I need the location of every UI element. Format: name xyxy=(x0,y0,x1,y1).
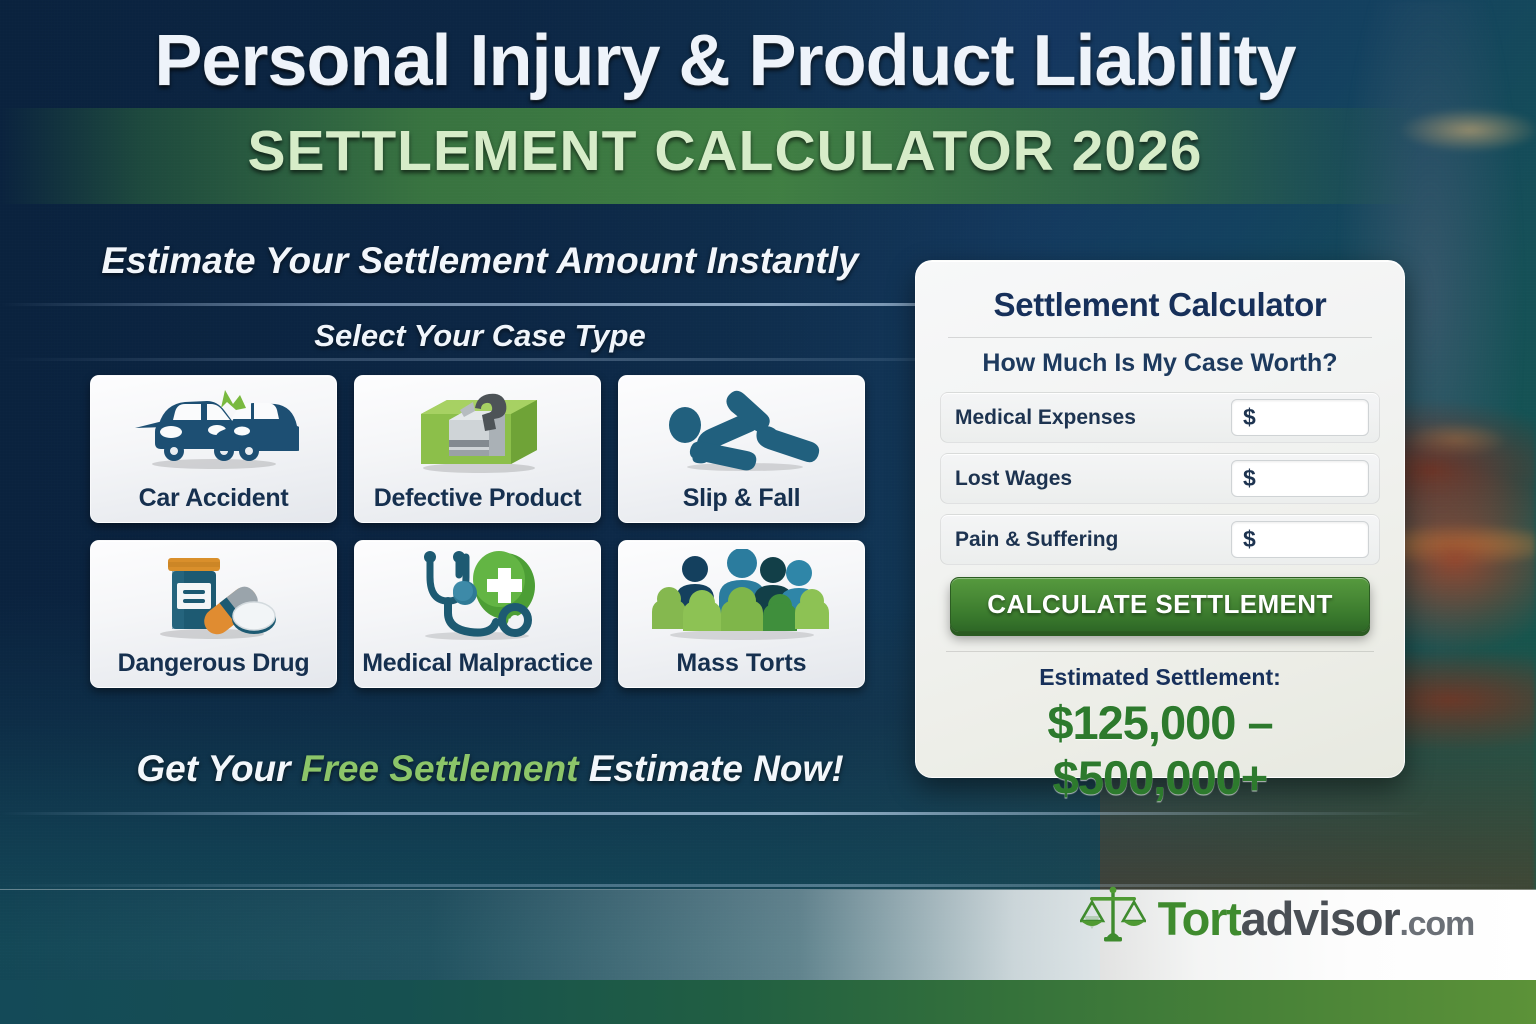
field-label: Pain & Suffering xyxy=(955,528,1118,552)
crowd-of-people-icon xyxy=(619,541,864,649)
field-label: Lost Wages xyxy=(955,467,1072,491)
field-label: Medical Expenses xyxy=(955,406,1136,430)
page-subtitle: SETTLEMENT CALCULATOR 2026 xyxy=(0,118,1450,184)
pain-and-suffering-input[interactable]: $ xyxy=(1231,521,1369,558)
footer-color-strip xyxy=(0,980,1536,1024)
car-crash-icon xyxy=(91,376,336,484)
lost-wages-input[interactable]: $ xyxy=(1231,460,1369,497)
case-type-label: Slip & Fall xyxy=(683,484,801,513)
case-type-card-dangerous-drug[interactable]: Dangerous Drug xyxy=(90,540,337,688)
logo-text-tort: Tort xyxy=(1158,892,1241,945)
cta-highlight: Free Settlement xyxy=(301,748,579,789)
slip-and-fall-icon xyxy=(619,376,864,484)
pill-bottle-icon xyxy=(91,541,336,649)
case-type-label: Defective Product xyxy=(374,484,581,513)
case-type-grid: Car Accident Defective Product xyxy=(90,375,865,688)
poster-stage: Personal Injury & Product Liability SETT… xyxy=(0,0,1536,1024)
tagline: Estimate Your Settlement Amount Instantl… xyxy=(0,240,960,282)
field-lost-wages[interactable]: Lost Wages $ xyxy=(940,453,1380,504)
call-to-action: Get Your Free Settlement Estimate Now! xyxy=(0,748,980,790)
case-type-card-medical-malpractice[interactable]: Medical Malpractice xyxy=(354,540,601,688)
logo-wordmark: Tortadvisor.com xyxy=(1158,895,1474,942)
field-pain-and-suffering[interactable]: Pain & Suffering $ xyxy=(940,514,1380,565)
cta-prefix: Get Your xyxy=(136,748,300,789)
medical-expenses-input[interactable]: $ xyxy=(1231,399,1369,436)
case-type-card-mass-torts[interactable]: Mass Torts xyxy=(618,540,865,688)
case-type-card-slip-and-fall[interactable]: Slip & Fall xyxy=(618,375,865,523)
settlement-calculator-panel: Settlement Calculator How Much Is My Cas… xyxy=(915,260,1405,778)
case-type-label: Dangerous Drug xyxy=(118,649,310,678)
case-type-card-car-accident[interactable]: Car Accident xyxy=(90,375,337,523)
select-case-type-label: Select Your Case Type xyxy=(0,318,960,354)
estimated-settlement-label: Estimated Settlement: xyxy=(940,664,1380,691)
calculator-divider-2 xyxy=(946,651,1374,652)
scales-of-justice-icon xyxy=(1080,885,1146,952)
estimated-settlement-value: $125,000 – $500,000+ xyxy=(940,695,1380,805)
cta-suffix: Estimate Now! xyxy=(578,748,843,789)
case-type-label: Mass Torts xyxy=(676,649,806,678)
case-type-label: Car Accident xyxy=(139,484,289,513)
divider-shine-3 xyxy=(0,812,1430,815)
logo-text-dotcom: .com xyxy=(1399,905,1474,943)
site-logo[interactable]: Tortadvisor.com xyxy=(1080,885,1474,952)
calculate-settlement-button[interactable]: CALCULATE SETTLEMENT xyxy=(950,577,1370,632)
calculator-question: How Much Is My Case Worth? xyxy=(940,349,1380,378)
page-title: Personal Injury & Product Liability xyxy=(0,20,1450,102)
logo-text-advisor: advisor xyxy=(1241,892,1400,945)
calculator-title: Settlement Calculator xyxy=(940,286,1380,324)
case-type-label: Medical Malpractice xyxy=(362,649,593,678)
calculator-divider xyxy=(948,337,1372,338)
case-type-card-defective-product[interactable]: Defective Product xyxy=(354,375,601,523)
defective-product-icon xyxy=(355,376,600,484)
stethoscope-icon xyxy=(355,541,600,649)
field-medical-expenses[interactable]: Medical Expenses $ xyxy=(940,392,1380,443)
